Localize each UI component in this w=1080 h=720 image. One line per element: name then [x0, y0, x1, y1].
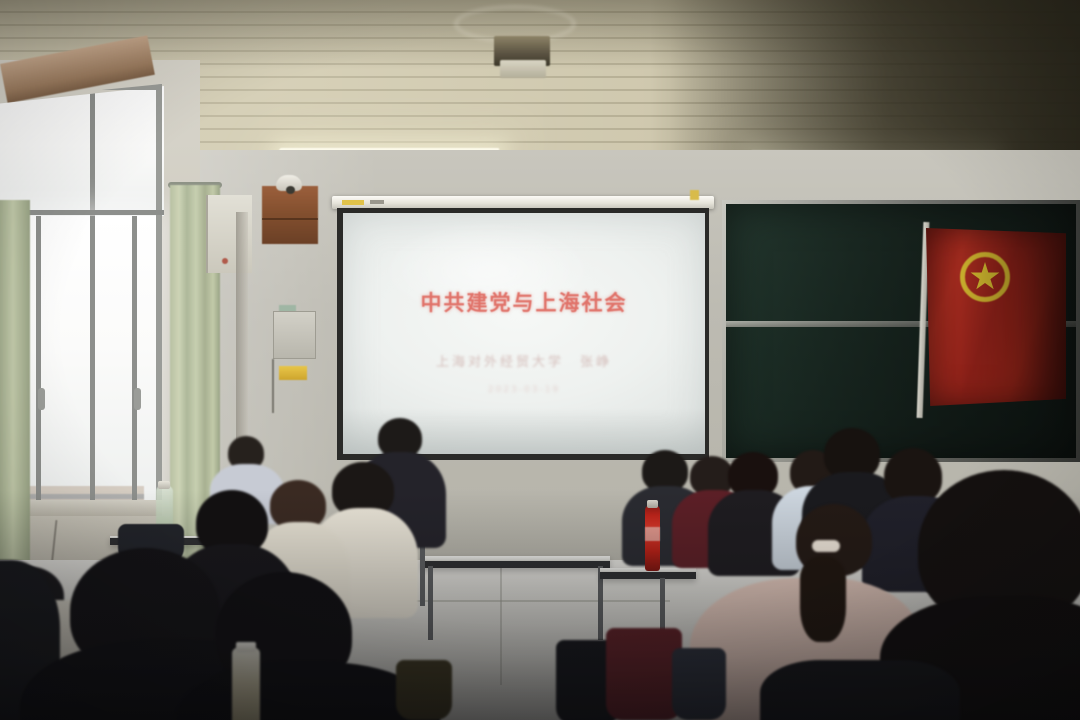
panel-wire	[272, 359, 274, 413]
window-latch-handle[interactable]	[134, 388, 141, 410]
wooden-box-seam	[262, 218, 318, 220]
roller-brand-label	[342, 200, 364, 205]
water-bottle-2	[232, 648, 260, 720]
classroom-window-upper	[0, 86, 164, 216]
roller-clip	[690, 190, 699, 200]
slide-subtitle: 上海对外经贸大学 张峥	[343, 351, 705, 370]
slide-date: 2023-03-19	[343, 385, 705, 395]
bag-yellow	[396, 660, 452, 720]
warning-label	[279, 366, 307, 380]
window-mullion	[132, 216, 137, 506]
classroom-photo: 中共建党与上海社会 上海对外经贸大学 张峥 2023-03-19	[0, 0, 1080, 720]
curtain-left[interactable]	[0, 200, 30, 620]
slide-title: 中共建党与上海社会	[343, 287, 705, 317]
floor-tile-seam	[500, 565, 502, 685]
window-mullion	[90, 86, 95, 216]
air-conditioner-indicator	[222, 258, 228, 264]
window-mullion	[36, 216, 41, 506]
bottle-cap	[236, 642, 256, 652]
electrical-panel[interactable]	[273, 311, 316, 359]
coca-cola-label	[645, 527, 660, 541]
hair-tie	[812, 540, 840, 552]
desk-leg	[428, 566, 433, 640]
projector-body	[500, 60, 546, 78]
roller-label-secondary	[370, 200, 384, 204]
bottle-cap	[647, 500, 658, 508]
window-latch-handle[interactable]	[38, 388, 45, 410]
ponytail	[800, 556, 846, 642]
security-camera-lens	[286, 186, 295, 194]
desk	[420, 556, 610, 568]
window-mullion	[90, 216, 95, 506]
red-bag	[606, 628, 682, 720]
wooden-wall-box	[262, 186, 318, 244]
backpack-2	[672, 648, 726, 720]
bottle-cap	[158, 481, 170, 489]
